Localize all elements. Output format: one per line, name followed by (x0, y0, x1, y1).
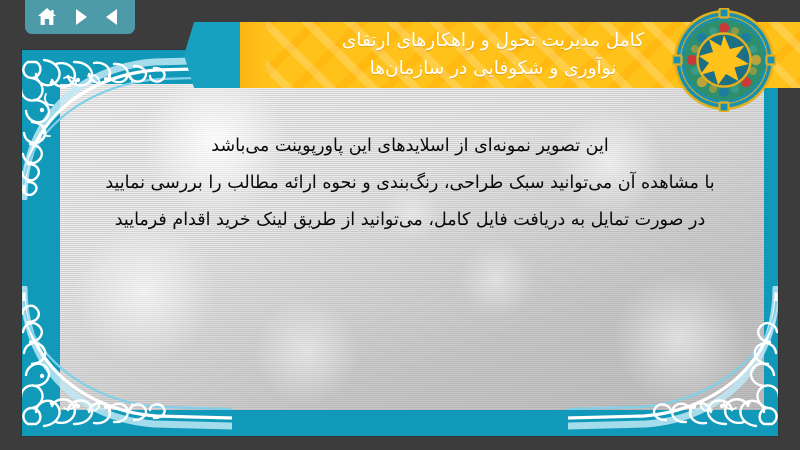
circular-medallion-ornament (672, 8, 776, 112)
body-line-1: این تصویر نمونه‌ای از اسلایدهای این پاور… (60, 128, 760, 165)
banner-title-line-1: کامل مدیریت تحول و راهکارهای ارتقای (342, 27, 644, 55)
home-button[interactable] (34, 4, 60, 30)
triangle-right-icon (69, 6, 91, 28)
presentation-slide: کامل مدیریت تحول و راهکارهای ارتقای نوآو… (0, 0, 800, 450)
body-line-2: با مشاهده آن می‌توانید سبک طراحی، رنگ‌بن… (60, 165, 760, 202)
triangle-left-icon (102, 6, 124, 28)
previous-slide-button[interactable] (100, 4, 126, 30)
body-line-3: در صورت تمایل به دریافت فایل کامل، می‌تو… (60, 202, 760, 239)
home-icon (36, 6, 58, 28)
banner-title-line-2: نوآوری و شکوفایی در سازمان‌ها (370, 55, 617, 83)
slide-navigation-bar (25, 0, 135, 34)
next-slide-button[interactable] (67, 4, 93, 30)
banner-pennant-arrow (184, 22, 240, 88)
slide-body-text: این تصویر نمونه‌ای از اسلایدهای این پاور… (60, 128, 760, 239)
content-panel (22, 50, 778, 436)
